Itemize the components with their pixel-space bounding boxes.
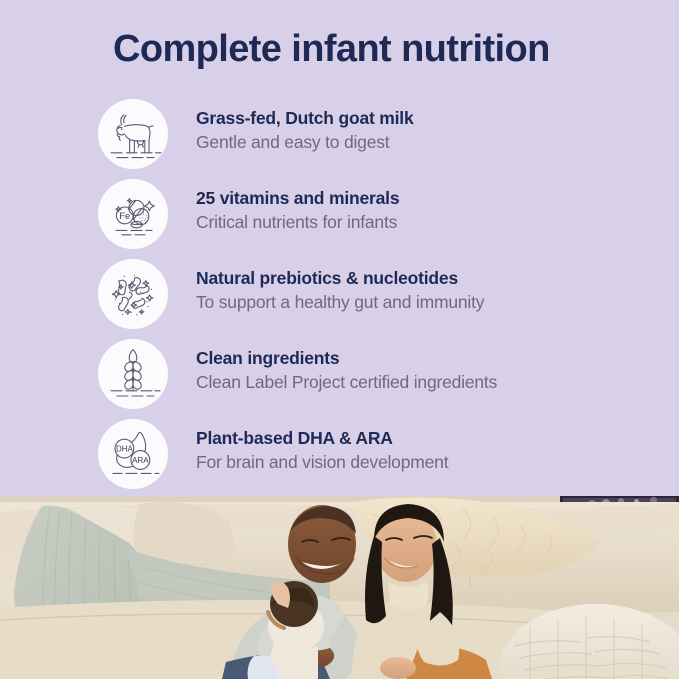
feature-heading: Natural prebiotics & nucleotides — [196, 268, 666, 290]
page-title: Complete infant nutrition — [113, 29, 653, 71]
ara-label: ARA — [132, 456, 149, 465]
feature-text: 25 vitamins and minerals Critical nutrie… — [196, 188, 666, 234]
feature-text: Clean ingredients Clean Label Project ce… — [196, 348, 666, 394]
goat-icon — [98, 99, 168, 169]
feature-subtext: Critical nutrients for infants — [196, 212, 666, 234]
list-item: Grass-fed, Dutch goat milk Gentle and ea… — [0, 97, 679, 177]
list-item: Fe 25 vitamins and minerals Critical nut… — [0, 177, 679, 257]
feature-list: Grass-fed, Dutch goat milk Gentle and ea… — [0, 97, 679, 497]
feature-subtext: For brain and vision development — [196, 452, 666, 474]
feature-subtext: To support a healthy gut and immunity — [196, 292, 666, 314]
probiotics-bacteria-icon — [98, 259, 168, 329]
features-panel: Complete infant nutrition — [0, 0, 679, 496]
feature-text: Natural prebiotics & nucleotides To supp… — [196, 268, 666, 314]
feature-heading: Clean ingredients — [196, 348, 666, 370]
feature-subtext: Clean Label Project certified ingredient… — [196, 372, 666, 394]
wheat-stalk-icon — [98, 339, 168, 409]
feature-text: Grass-fed, Dutch goat milk Gentle and ea… — [196, 108, 666, 154]
lifestyle-photo — [0, 496, 679, 679]
feature-heading: Plant-based DHA & ARA — [196, 428, 666, 450]
feature-heading: 25 vitamins and minerals — [196, 188, 666, 210]
list-item: Clean ingredients Clean Label Project ce… — [0, 337, 679, 417]
product-infographic: Complete infant nutrition — [0, 0, 679, 679]
dha-label: DHA — [116, 445, 134, 454]
feature-heading: Grass-fed, Dutch goat milk — [196, 108, 666, 130]
dha-ara-icon: DHA ARA — [98, 419, 168, 489]
list-item: DHA ARA Plant-based DHA & ARA For brain … — [0, 417, 679, 497]
feature-subtext: Gentle and easy to digest — [196, 132, 666, 154]
list-item: Natural prebiotics & nucleotides To supp… — [0, 257, 679, 337]
feature-text: Plant-based DHA & ARA For brain and visi… — [196, 428, 666, 474]
fe-label: Fe — [119, 210, 130, 221]
vitamins-pills-icon: Fe — [98, 179, 168, 249]
